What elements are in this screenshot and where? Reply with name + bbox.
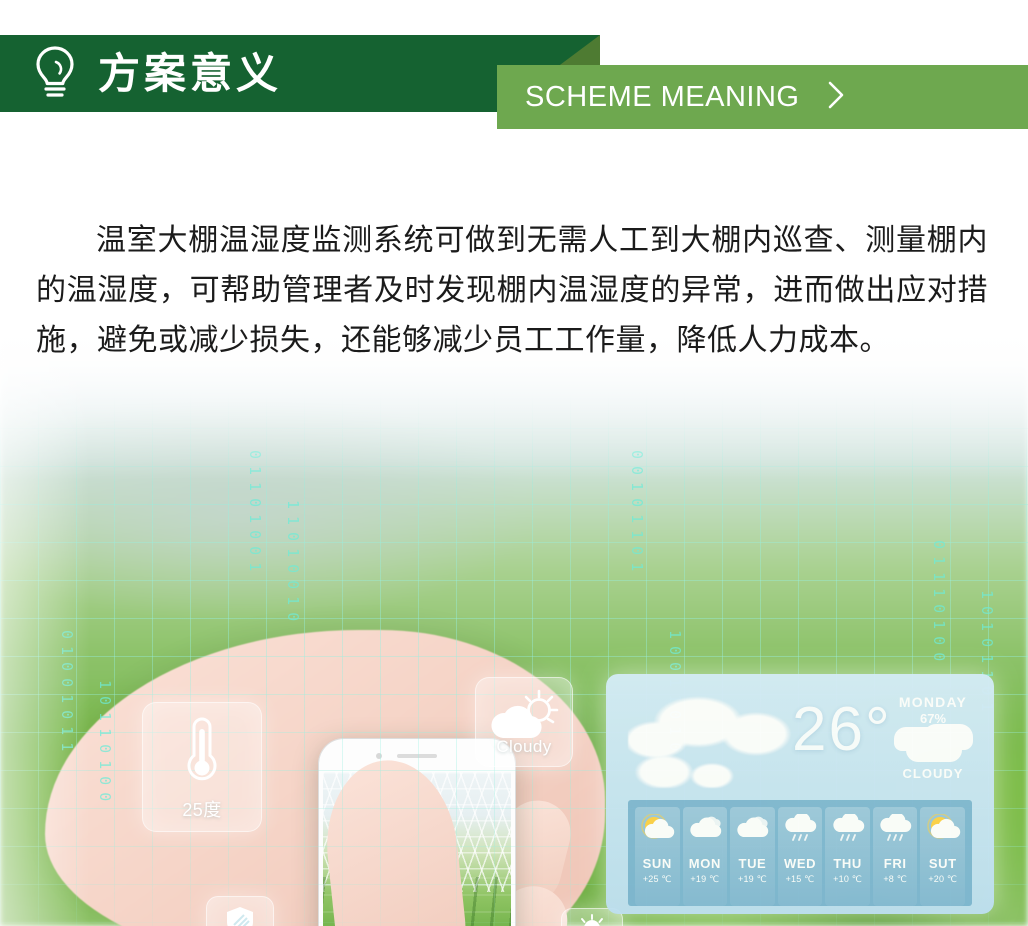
- current-day: MONDAY: [884, 694, 982, 710]
- rain-icon: [876, 813, 914, 843]
- forecast-cell[interactable]: TUE +19 ℃: [730, 807, 775, 906]
- card-label: 25度: [182, 796, 221, 822]
- forecast-cell[interactable]: SUN +25 ℃: [635, 807, 680, 906]
- forecast-cell[interactable]: MON +19 ℃: [683, 807, 728, 906]
- forecast-temp: +15 ℃: [786, 874, 815, 885]
- scheme-meaning-page: 方案意义 SCHEME MEANING 温室大棚温湿度监测系统可做到无需人工到大…: [0, 0, 1028, 926]
- forecast-temp: +19 ℃: [690, 874, 719, 885]
- card-cloudy[interactable]: Cloudy: [475, 677, 573, 767]
- forecast-day: SUT: [929, 856, 957, 871]
- cloud-icon: [733, 813, 771, 843]
- cloud-illustration: [628, 688, 808, 788]
- current-temperature: 26°: [792, 694, 892, 765]
- banner-subtitle-group[interactable]: SCHEME MEANING: [525, 65, 847, 129]
- sun-cloud-icon: [924, 813, 962, 843]
- forecast-day: WED: [784, 856, 816, 871]
- description-paragraph: 温室大棚温湿度监测系统可做到无需人工到大棚内巡查、测量棚内的温湿度，可帮助管理者…: [36, 216, 988, 366]
- lightbulb-rays-icon: [576, 914, 608, 926]
- forecast-day: TUE: [739, 856, 767, 871]
- cloud-icon: [686, 813, 724, 843]
- cloud-icon: [906, 730, 962, 762]
- hero-photo: 01001011 10110100 01101001 11010010 0010…: [0, 330, 1028, 926]
- forecast-cell[interactable]: THU +10 ℃: [825, 807, 870, 906]
- banner-title-group: 方案意义: [32, 35, 282, 112]
- banner-subtitle: SCHEME MEANING: [525, 81, 799, 114]
- card-temperature[interactable]: 25度: [142, 702, 262, 832]
- chevron-right-icon[interactable]: [825, 79, 847, 116]
- forecast-cell[interactable]: WED +15 ℃: [778, 807, 823, 906]
- section-header-banner: 方案意义 SCHEME MEANING: [0, 0, 1028, 140]
- forecast-temp: +20 ℃: [928, 874, 957, 885]
- forecast-temp: +10 ℃: [833, 874, 862, 885]
- rain-icon: [781, 813, 819, 843]
- photo-left-fade: [0, 330, 90, 926]
- weather-widget[interactable]: 26° MONDAY 67% CLOUDY SUN +25 ℃: [606, 674, 994, 914]
- forecast-cell[interactable]: SUT +20 ℃: [920, 807, 965, 906]
- sun-cloud-icon: [638, 813, 676, 843]
- shield-icon: [225, 905, 255, 926]
- front-camera-icon: [376, 753, 382, 759]
- current-humidity: 67%: [884, 711, 982, 726]
- forecast-strip: SUN +25 ℃ MON +19 ℃: [628, 800, 972, 906]
- thermometer-icon: [180, 713, 224, 790]
- lightbulb-icon: [32, 44, 78, 103]
- forecast-day: MON: [689, 856, 721, 871]
- page-title: 方案意义: [98, 53, 282, 95]
- earpiece-speaker: [397, 754, 437, 758]
- forecast-cell[interactable]: FRI +8 ℃: [873, 807, 918, 906]
- card-security[interactable]: Security: [206, 896, 274, 926]
- forecast-day: THU: [833, 856, 862, 871]
- forecast-day: FRI: [884, 856, 907, 871]
- current-condition: CLOUDY: [884, 766, 982, 781]
- forecast-temp: +19 ℃: [738, 874, 767, 885]
- card-label: Cloudy: [496, 737, 551, 757]
- forecast-day: SUN: [643, 856, 672, 871]
- forecast-temp: +8 ℃: [883, 874, 907, 885]
- rain-icon: [829, 813, 867, 843]
- forecast-temp: +25 ℃: [643, 874, 672, 885]
